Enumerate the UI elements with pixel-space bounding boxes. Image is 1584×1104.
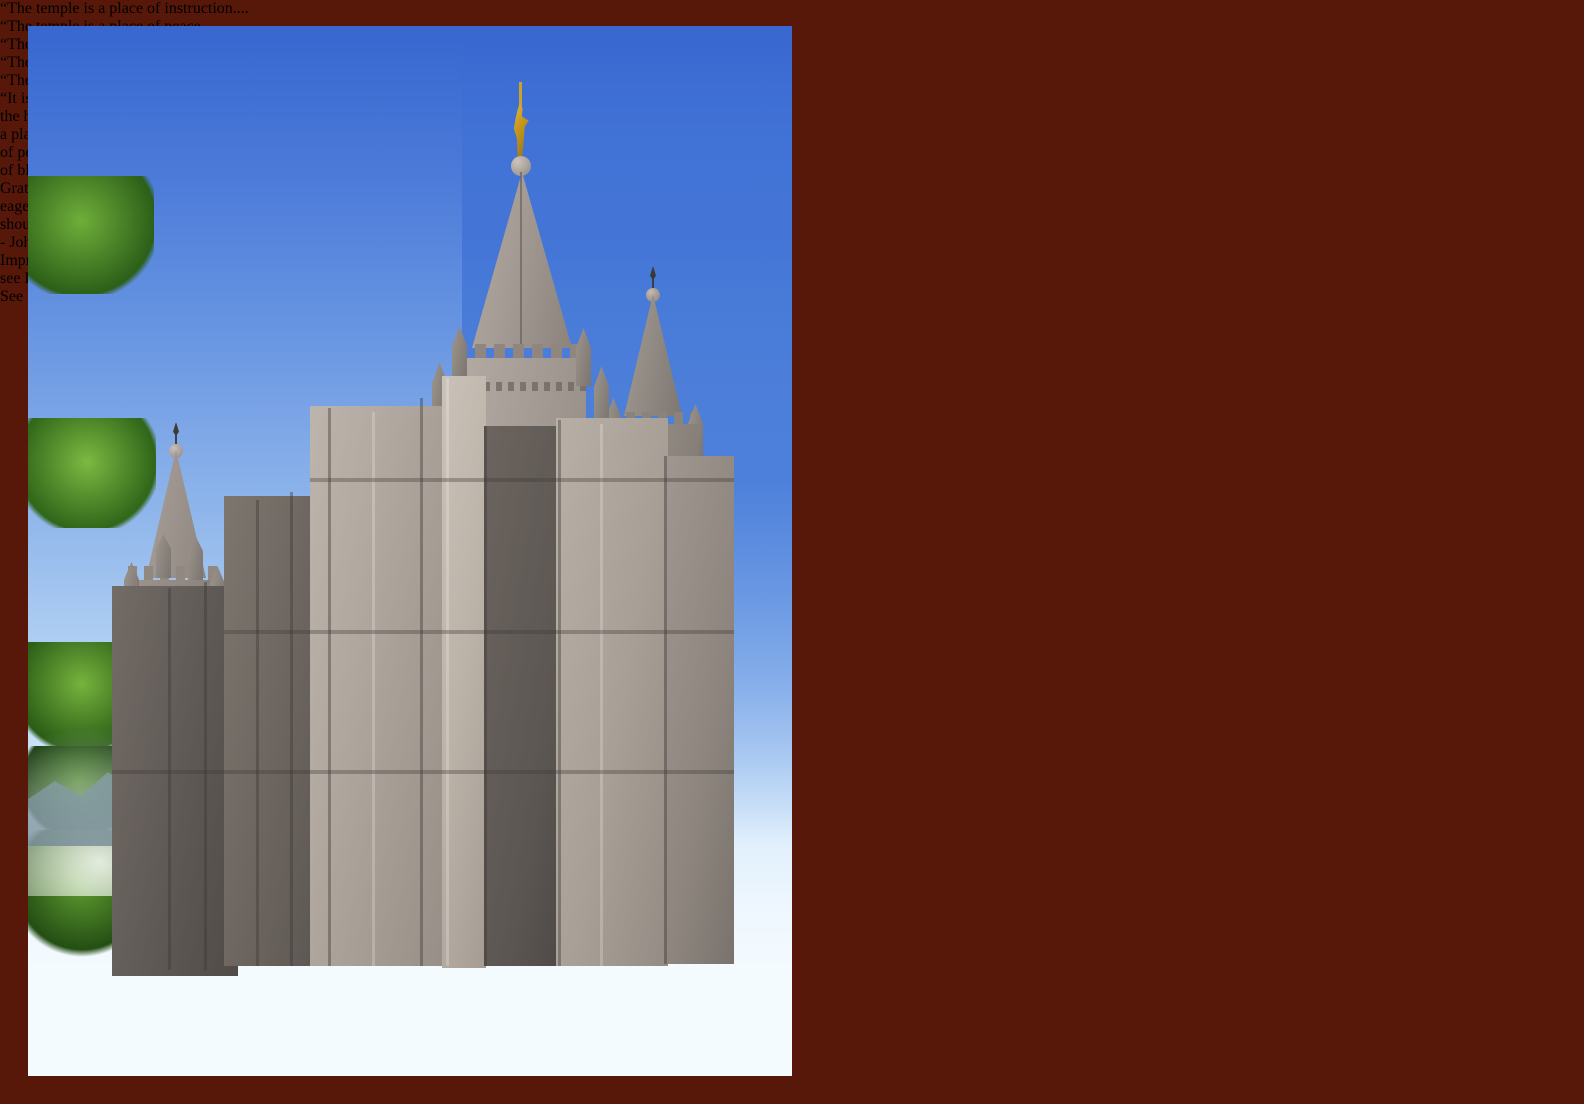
poster-frame: “The temple is a place of instruction...…	[0, 0, 1584, 1104]
temple-building	[28, 26, 792, 1076]
quote-line: “The temple is a place of instruction...…	[0, 0, 1584, 18]
buttress-highlight	[372, 412, 375, 966]
distant-window	[28, 158, 46, 196]
angel-moroni-statue	[509, 104, 531, 160]
arched-window	[376, 810, 398, 888]
pinnacle-icon	[576, 328, 591, 386]
center-spire-ridge	[520, 172, 522, 348]
arched-window	[136, 816, 150, 866]
arched-window	[232, 712, 248, 770]
arched-window	[232, 622, 248, 678]
west-wing-wall	[112, 586, 238, 976]
arched-window	[712, 766, 727, 820]
buttress-line	[484, 426, 487, 966]
arched-window	[232, 808, 248, 866]
buttress-line	[558, 420, 561, 966]
arched-window	[176, 792, 191, 846]
arched-window	[712, 674, 727, 728]
string-course	[310, 478, 734, 482]
buttress-line	[290, 492, 293, 966]
arched-window	[506, 644, 526, 718]
right-facade-wall	[556, 418, 668, 966]
arched-window	[268, 782, 286, 846]
buttress-line	[420, 398, 423, 966]
arched-window	[376, 596, 398, 672]
arched-window	[680, 818, 697, 876]
arched-window	[680, 634, 697, 692]
distant-window	[28, 118, 48, 158]
arched-window	[712, 586, 727, 638]
west-battlement	[128, 566, 224, 580]
arched-window	[376, 494, 398, 566]
arched-window	[680, 546, 697, 602]
arched-window	[136, 726, 150, 776]
buttress-highlight	[446, 378, 449, 966]
buttress-line	[168, 588, 171, 970]
arched-window	[584, 644, 610, 748]
oculus-window	[28, 52, 48, 76]
string-course	[224, 630, 734, 634]
oculus-window	[28, 76, 47, 99]
center-spire	[472, 172, 572, 348]
buttress-line	[256, 500, 259, 966]
string-course	[112, 770, 734, 774]
salt-lake-temple-photo	[28, 26, 792, 1076]
arched-window	[584, 786, 610, 882]
arched-window	[506, 854, 526, 920]
arched-window	[506, 750, 526, 824]
buttress-line	[664, 456, 667, 964]
buttress-line	[204, 582, 207, 970]
oculus-window	[28, 99, 44, 118]
arched-window	[268, 586, 286, 648]
arched-window	[376, 702, 398, 780]
oculus-window	[28, 26, 50, 52]
arched-window	[176, 698, 191, 752]
arched-window	[268, 682, 286, 746]
buttress-line	[328, 408, 331, 966]
east-spire	[624, 294, 682, 416]
arched-window	[680, 726, 697, 784]
